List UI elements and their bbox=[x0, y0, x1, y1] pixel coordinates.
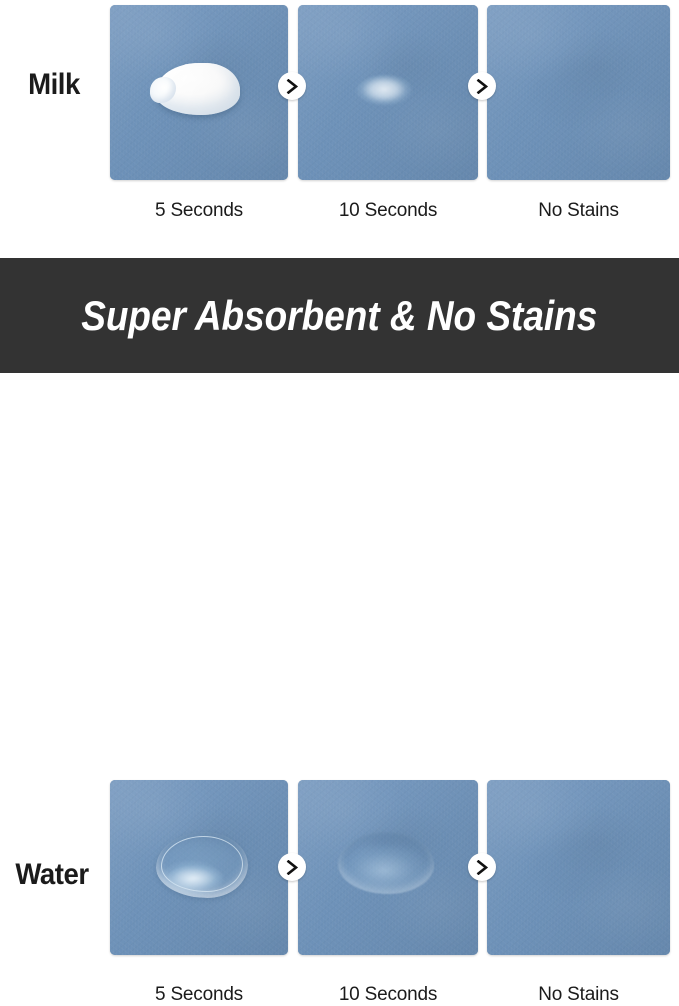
fabric-texture bbox=[487, 5, 670, 180]
caption-water-10s: 10 Seconds bbox=[298, 984, 478, 1006]
chevron-right-icon bbox=[476, 79, 489, 94]
fabric-panel-water-10s bbox=[298, 780, 478, 955]
chevron-right-icon bbox=[286, 79, 299, 94]
caption-milk-5s: 5 Seconds bbox=[110, 200, 288, 222]
banner-headline: Super Absorbent & No Stains bbox=[81, 292, 597, 340]
chevron-right-icon bbox=[286, 860, 299, 875]
fabric-panel-water-clean bbox=[487, 780, 670, 955]
caption-milk-10s: 10 Seconds bbox=[298, 200, 478, 222]
arrow-icon-milk-1 bbox=[278, 72, 306, 100]
fabric-texture bbox=[298, 5, 478, 180]
fabric-texture bbox=[110, 5, 288, 180]
fabric-texture bbox=[110, 780, 288, 955]
fabric-texture bbox=[487, 780, 670, 955]
demo-row-water: Water 5 Seconds 10 Seconds No Stains bbox=[0, 380, 679, 626]
fabric-texture bbox=[298, 780, 478, 955]
caption-milk-clean: No Stains bbox=[487, 200, 670, 222]
caption-water-5s: 5 Seconds bbox=[110, 984, 288, 1006]
fabric-panel-milk-10s bbox=[298, 5, 478, 180]
fabric-panel-water-5s bbox=[110, 780, 288, 955]
fabric-panel-milk-5s bbox=[110, 5, 288, 180]
arrow-icon-water-1 bbox=[278, 853, 306, 881]
banner-super-absorbent: Super Absorbent & No Stains bbox=[0, 258, 679, 373]
row-label-water: Water bbox=[2, 858, 101, 892]
chevron-right-icon bbox=[476, 860, 489, 875]
demo-row-milk: Milk 5 Seconds 10 Seconds No Stains bbox=[0, 0, 679, 246]
row-label-milk: Milk bbox=[4, 68, 103, 102]
fabric-panel-milk-clean bbox=[487, 5, 670, 180]
arrow-icon-milk-2 bbox=[468, 72, 496, 100]
caption-water-clean: No Stains bbox=[487, 984, 670, 1006]
arrow-icon-water-2 bbox=[468, 853, 496, 881]
